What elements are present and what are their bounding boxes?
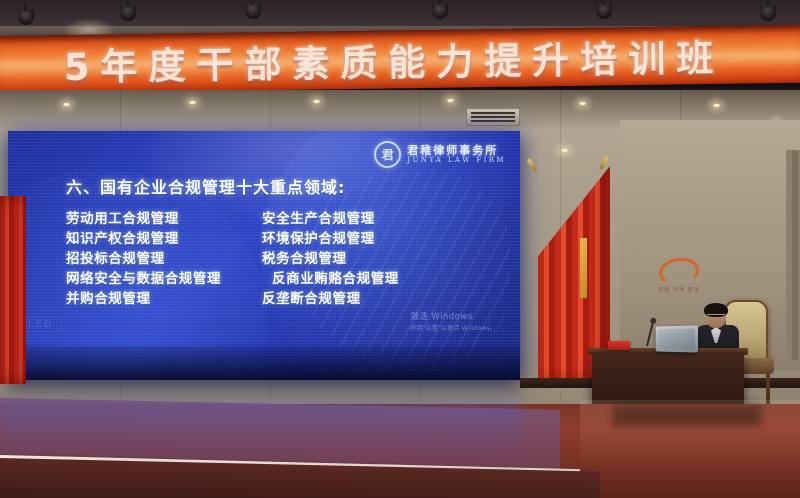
floor-sheen — [580, 400, 800, 498]
windows-activation-watermark: 激活 Windows 转到"设置"以激活 Windows。 — [410, 310, 496, 332]
flag-pole-icon — [527, 158, 538, 172]
list-item: 网络安全与数据合规管理 — [66, 271, 262, 289]
right-wall-strip — [786, 150, 800, 360]
logo-mark-icon: 君 — [374, 141, 401, 168]
emblem-icon — [657, 255, 700, 286]
recessed-downlight — [62, 102, 71, 107]
list-item: 招投标合规管理 — [66, 251, 262, 269]
recessed-downlight — [712, 103, 721, 108]
left-red-curtain — [0, 196, 26, 384]
watermark-line-1: 激活 Windows — [410, 310, 496, 322]
glasses-icon — [707, 314, 725, 320]
law-firm-logo: 君 君稚律师事务所 JUNYA LAW FIRM — [374, 141, 506, 168]
list-item: 税务合规管理 — [262, 251, 492, 269]
recessed-downlight — [446, 98, 455, 103]
screen-corner-badge: LED — [20, 317, 62, 332]
logo-english-name: JUNYA LAW FIRM — [407, 157, 506, 164]
watermark-line-2: 转到"设置"以激活 Windows。 — [410, 323, 496, 332]
wall-emblem: 忠诚 干净 担当 — [655, 258, 703, 298]
gold-flag-band — [580, 238, 587, 298]
slide-left-column: 劳动用工合规管理 知识产权合规管理 招投标合规管理 网络安全与数据合规管理 并购… — [66, 211, 262, 309]
name-plate — [608, 341, 630, 350]
logo-chinese-name: 君稚律师事务所 — [407, 145, 506, 157]
emblem-label: 忠诚 干净 担当 — [655, 287, 703, 294]
recessed-downlight — [312, 99, 321, 104]
flag-pole-icon — [599, 156, 609, 170]
screen-bottom-shade — [8, 346, 520, 380]
recessed-downlight — [578, 101, 587, 106]
photo-scene: 5年度干部素质能力提升培训班 忠诚 干净 担当 君 君稚律师事务所 — [0, 0, 800, 498]
list-item: 劳动用工合规管理 — [66, 211, 262, 229]
list-item: 反垄断合规管理 — [262, 291, 492, 309]
recessed-downlight — [188, 100, 197, 105]
list-item: 知识产权合规管理 — [66, 231, 262, 249]
slide-columns: 劳动用工合规管理 知识产权合规管理 招投标合规管理 网络安全与数据合规管理 并购… — [66, 211, 496, 309]
list-item: 并购合规管理 — [66, 291, 262, 309]
screen-reflection-glow — [0, 400, 520, 458]
banner-text: 5年度干部素质能力提升培训班 — [0, 27, 800, 93]
banner-container: 5年度干部素质能力提升培训班 — [0, 25, 800, 94]
air-conditioner-vent — [466, 108, 520, 126]
led-presentation-screen[interactable]: 君 君稚律师事务所 JUNYA LAW FIRM 六、国有企业合规管理十大重点领… — [8, 131, 520, 380]
slide-title: 六、国有企业合规管理十大重点领域: — [66, 174, 345, 198]
list-item: 环境保护合规管理 — [262, 231, 492, 249]
list-item: 安全生产合规管理 — [262, 211, 492, 229]
list-item: 反商业贿赂合规管理 — [262, 271, 492, 289]
laptop — [656, 325, 698, 352]
slide-right-column: 安全生产合规管理 环境保护合规管理 税务合规管理 反商业贿赂合规管理 反垄断合规… — [262, 211, 492, 309]
